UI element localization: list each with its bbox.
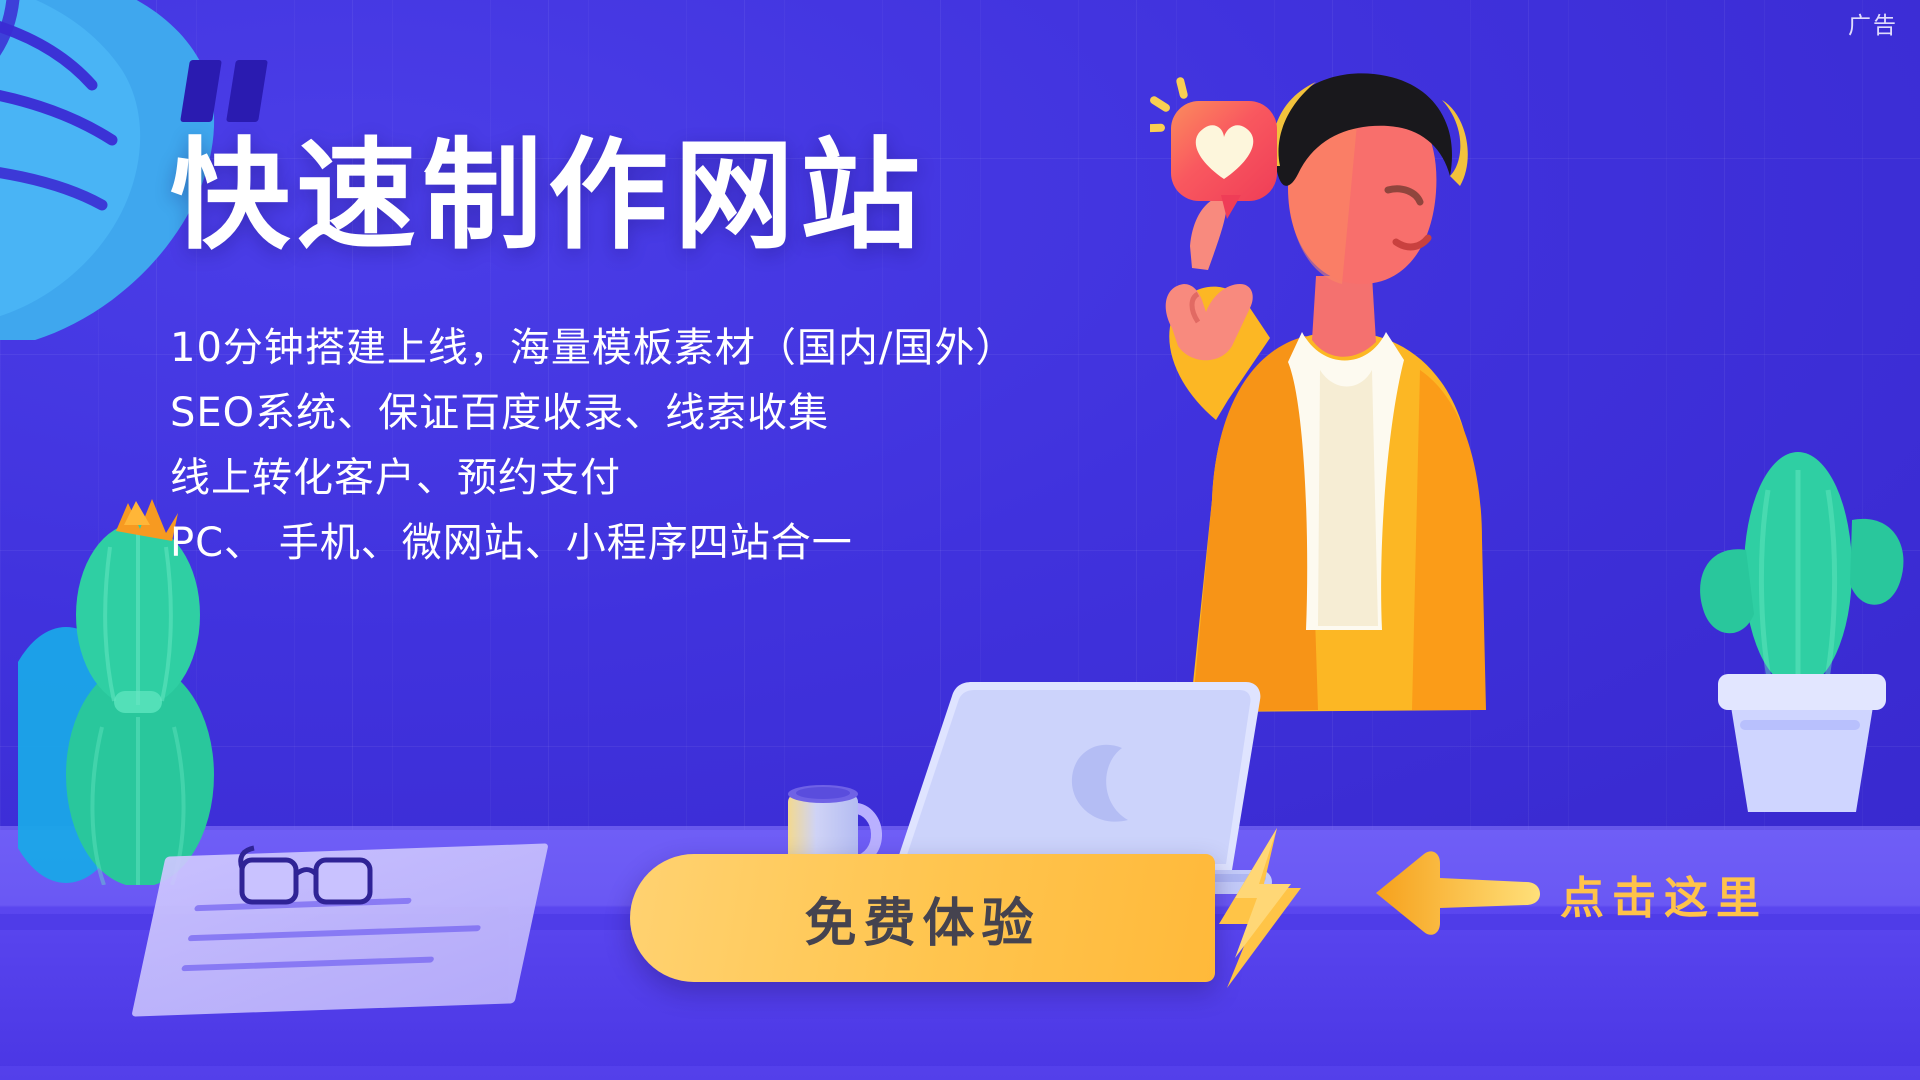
click-here-hint: 点击这里 <box>1560 862 1768 926</box>
free-trial-button[interactable]: 免费体验 <box>630 854 1215 982</box>
cta-group: 免费体验 点击这里 <box>630 854 1215 982</box>
quotation-marks-icon <box>185 60 277 127</box>
feature-list: 10分钟搭建上线，海量模板素材（国内/国外） SEO系统、保证百度收录、线索收集… <box>170 316 1170 575</box>
list-item: PC、 手机、微网站、小程序四站合一 <box>170 511 1170 576</box>
potted-cactus-icon <box>1670 400 1920 820</box>
eyeglasses-icon <box>238 844 378 908</box>
page-title: 快速制作网站 <box>170 130 1170 264</box>
ad-copy: 快速制作网站 10分钟搭建上线，海量模板素材（国内/国外） SEO系统、保证百度… <box>170 130 1170 576</box>
ad-banner[interactable]: 广告 <box>0 0 1920 1080</box>
ad-badge: 广告 <box>1848 6 1898 40</box>
lightning-bolt-icon <box>1205 828 1315 988</box>
list-item: 线上转化客户、预约支付 <box>170 446 1170 511</box>
list-item: 10分钟搭建上线，海量模板素材（国内/国外） <box>170 316 1170 381</box>
arrow-left-icon[interactable] <box>1370 848 1540 938</box>
list-item: SEO系统、保证百度收录、线索收集 <box>170 381 1170 446</box>
bottom-edge <box>0 1066 1920 1080</box>
sparkle-icon <box>1150 75 1210 135</box>
